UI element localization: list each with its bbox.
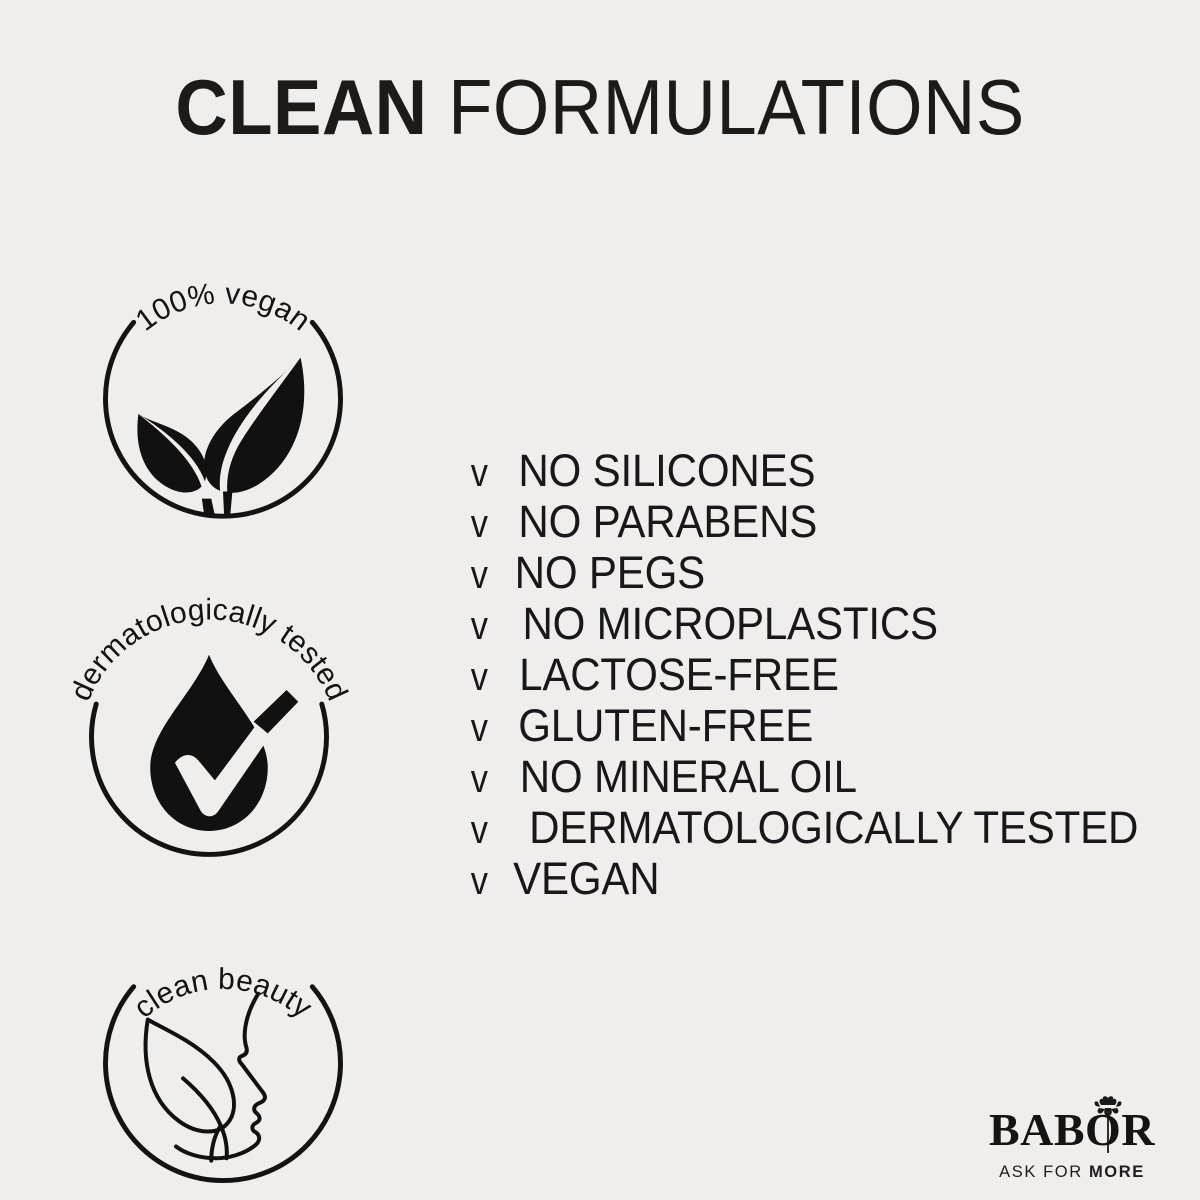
list-item-label: NO PARABENS	[518, 499, 817, 544]
list-item: v NO PARABENS	[468, 499, 1168, 550]
check-icon: v	[471, 453, 505, 493]
list-item: v DERMATOLOGICALLY TESTED	[468, 805, 1168, 856]
page-title-light: FORMULATIONS	[428, 63, 1025, 151]
brand-tagline-light: ASK FOR	[999, 1163, 1089, 1181]
check-icon: v	[471, 504, 505, 544]
check-icon: v	[471, 657, 505, 697]
list-item-label: DERMATOLOGICALLY TESTED	[529, 805, 1138, 850]
list-item: v NO MINERAL OIL	[468, 754, 1168, 805]
brand-tagline-bold: MORE	[1089, 1163, 1145, 1181]
list-item-label: NO SILICONES	[518, 448, 815, 493]
list-item: v LACTOSE-FREE	[468, 652, 1168, 703]
two-leaves-icon	[137, 358, 304, 518]
list-item: v VEGAN	[468, 856, 1168, 907]
check-icon: v	[471, 861, 505, 901]
list-item: v NO MICROPLASTICS	[468, 601, 1168, 652]
brand-wordmark: BABOR	[972, 1095, 1172, 1159]
list-item: v NO PEGS	[468, 550, 1168, 601]
face-profile-leaf-icon	[146, 994, 265, 1161]
badge-column: 100% vegan	[60, 245, 360, 1163]
list-item-label: NO MICROPLASTICS	[522, 601, 937, 646]
page-title: CLEAN FORMULATIONS	[42, 68, 1158, 146]
page-title-bold: CLEAN	[175, 63, 427, 151]
badge-ring	[105, 987, 340, 1181]
brand-tagline: ASK FOR MORE	[972, 1163, 1172, 1182]
list-item: v GLUTEN-FREE	[468, 703, 1168, 754]
claims-checklist: v NO SILICONES v NO PARABENS v NO PEGS v…	[468, 448, 1168, 907]
list-item-label: NO PEGS	[515, 550, 705, 595]
badge-clean-beauty-label: clean beauty	[128, 963, 318, 1025]
check-icon: v	[471, 759, 505, 799]
check-icon: v	[471, 708, 505, 748]
check-icon: v	[471, 606, 505, 646]
list-item-label: VEGAN	[513, 856, 659, 901]
check-icon: v	[471, 810, 505, 850]
badge-vegan-label: 100% vegan	[130, 277, 317, 337]
poster-canvas: CLEAN FORMULATIONS 100% vegan	[0, 0, 1200, 1200]
list-item-label: LACTOSE-FREE	[519, 652, 839, 697]
badge-clean-beauty: clean beauty	[82, 935, 364, 1200]
brand-logo: BABOR ASK FOR MORE	[972, 1095, 1172, 1182]
brand-name: BABOR	[989, 1104, 1155, 1155]
badge-dermatologically-tested: dermatologically tested	[68, 603, 350, 885]
droplet-check-icon	[150, 655, 298, 831]
list-item-label: GLUTEN-FREE	[518, 703, 813, 748]
list-item-label: NO MINERAL OIL	[520, 754, 857, 799]
list-item: v NO SILICONES	[468, 448, 1168, 499]
badge-vegan: 100% vegan	[82, 273, 364, 555]
check-icon: v	[471, 555, 505, 595]
